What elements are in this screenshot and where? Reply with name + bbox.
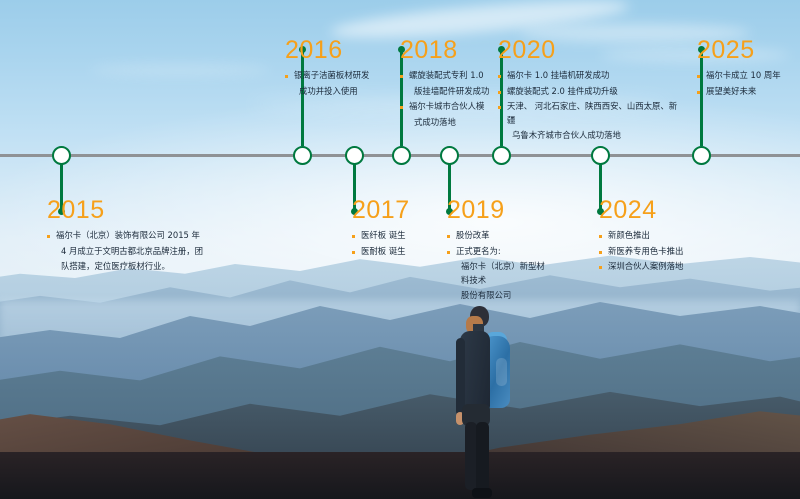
milestone-entry-2015: 2015福尔卡（北京）装饰有限公司 2015 年4 月成立于文明古都北京品牌注册… (47, 198, 209, 276)
milestone-year-2015: 2015 (47, 198, 209, 223)
milestone-bullet: 成功并投入使用 (285, 85, 383, 99)
milestone-bullet: 4 月成立于文明古都北京品牌注册，团 (47, 245, 209, 259)
milestone-bullet: 福尔卡城市合伙人模 (400, 100, 498, 114)
milestone-bullet: 新颜色推出 (599, 229, 719, 243)
milestone-entry-2018: 2018螺旋装配式专利 1.0版挂墙配件研发成功福尔卡城市合伙人模式成功落地 (400, 38, 498, 131)
milestone-year-2025: 2025 (697, 38, 797, 63)
milestone-bullet: 医耐板 诞生 (352, 245, 440, 259)
milestone-year-2017: 2017 (352, 198, 440, 223)
milestone-node-2017[interactable] (345, 146, 364, 165)
milestone-entry-2024: 2024新颜色推出新医养专用色卡推出深圳合伙人案例落地 (599, 198, 719, 276)
milestone-node-2019[interactable] (440, 146, 459, 165)
milestone-bullet-list-2019: 股份改革正式更名为:福尔卡（北京）新型材料技术股份有限公司 (447, 229, 551, 303)
milestone-bullet: 医纤板 诞生 (352, 229, 440, 243)
hiker-leg (476, 422, 489, 494)
milestone-bullet-list-2020: 福尔卡 1.0 挂墙机研发成功螺旋装配式 2.0 挂件成功升级天津、 河北石家庄… (498, 69, 684, 143)
milestone-bullet: 福尔卡（北京）新型材料技术 (447, 260, 551, 287)
milestone-node-2018[interactable] (392, 146, 411, 165)
milestone-bullet-list-2025: 福尔卡成立 10 周年展望美好未来 (697, 69, 797, 98)
milestone-bullet: 版挂墙配件研发成功 (400, 85, 498, 99)
hiker-figure (444, 304, 524, 499)
milestone-bullet-list-2018: 螺旋装配式专利 1.0版挂墙配件研发成功福尔卡城市合伙人模式成功落地 (400, 69, 498, 129)
milestone-bullet: 银离子洁菌板材研发 (285, 69, 383, 83)
milestone-node-2020[interactable] (492, 146, 511, 165)
milestone-bullet: 股份改革 (447, 229, 551, 243)
foreground-summit (0, 452, 800, 499)
milestone-bullet: 螺旋装配式专利 1.0 (400, 69, 498, 83)
milestone-year-2020: 2020 (498, 38, 684, 63)
milestone-bullet-list-2024: 新颜色推出新医养专用色卡推出深圳合伙人案例落地 (599, 229, 719, 274)
milestone-entry-2016: 2016银离子洁菌板材研发成功并投入使用 (285, 38, 383, 100)
milestone-year-2024: 2024 (599, 198, 719, 223)
milestone-entry-2025: 2025福尔卡成立 10 周年展望美好未来 (697, 38, 797, 100)
milestone-bullet: 天津、 河北石家庄、陕西西安、山西太原、新疆 (498, 100, 684, 127)
milestone-entry-2017: 2017医纤板 诞生医耐板 诞生 (352, 198, 440, 260)
milestone-bullet: 新医养专用色卡推出 (599, 245, 719, 259)
milestone-node-2025[interactable] (692, 146, 711, 165)
milestone-year-2018: 2018 (400, 38, 498, 63)
timeline-infographic: 2015福尔卡（北京）装饰有限公司 2015 年4 月成立于文明古都北京品牌注册… (0, 0, 800, 499)
milestone-bullet: 正式更名为: (447, 245, 551, 259)
milestone-bullet: 队搭建，定位医疗板材行业。 (47, 260, 209, 274)
milestone-bullet: 福尔卡（北京）装饰有限公司 2015 年 (47, 229, 209, 243)
milestone-bullet: 螺旋装配式 2.0 挂件成功升级 (498, 85, 684, 99)
milestone-bullet-list-2017: 医纤板 诞生医耐板 诞生 (352, 229, 440, 258)
milestone-bullet-list-2015: 福尔卡（北京）装饰有限公司 2015 年4 月成立于文明古都北京品牌注册，团队搭… (47, 229, 209, 274)
milestone-entry-2020: 2020福尔卡 1.0 挂墙机研发成功螺旋装配式 2.0 挂件成功升级天津、 河… (498, 38, 684, 145)
milestone-bullet: 深圳合伙人案例落地 (599, 260, 719, 274)
milestone-bullet: 股份有限公司 (447, 289, 551, 303)
milestone-bullet: 福尔卡成立 10 周年 (697, 69, 797, 83)
milestone-node-2024[interactable] (591, 146, 610, 165)
milestone-entry-2019: 2019股份改革正式更名为:福尔卡（北京）新型材料技术股份有限公司 (447, 198, 551, 305)
cloud-wisp (90, 64, 270, 76)
milestone-node-2016[interactable] (293, 146, 312, 165)
milestone-bullet: 式成功落地 (400, 116, 498, 130)
milestone-bullet-list-2016: 银离子洁菌板材研发成功并投入使用 (285, 69, 383, 98)
milestone-bullet: 展望美好未来 (697, 85, 797, 99)
milestone-year-2019: 2019 (447, 198, 551, 223)
milestone-year-2016: 2016 (285, 38, 383, 63)
milestone-bullet: 乌鲁木齐城市合伙人成功落地 (498, 129, 684, 143)
hiker-boot (472, 488, 492, 498)
backpack-pocket (496, 358, 507, 386)
milestone-bullet: 福尔卡 1.0 挂墙机研发成功 (498, 69, 684, 83)
milestone-node-2015[interactable] (52, 146, 71, 165)
